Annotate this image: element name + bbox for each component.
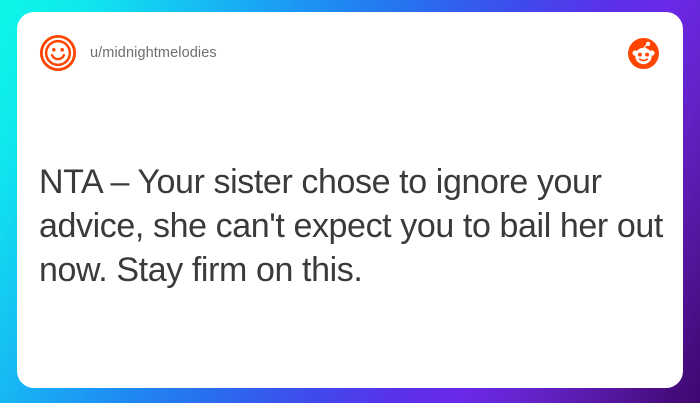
- smiley-face-icon[interactable]: [39, 34, 77, 72]
- comment-card: u/midnightmelodies NTA – Your sister cho…: [17, 12, 683, 388]
- comment-body-text: NTA – Your sister chose to ignore your a…: [39, 160, 667, 292]
- card-header: u/midnightmelodies: [17, 12, 683, 94]
- reddit-snoo-icon[interactable]: [628, 38, 659, 69]
- username-label[interactable]: u/midnightmelodies: [90, 45, 217, 61]
